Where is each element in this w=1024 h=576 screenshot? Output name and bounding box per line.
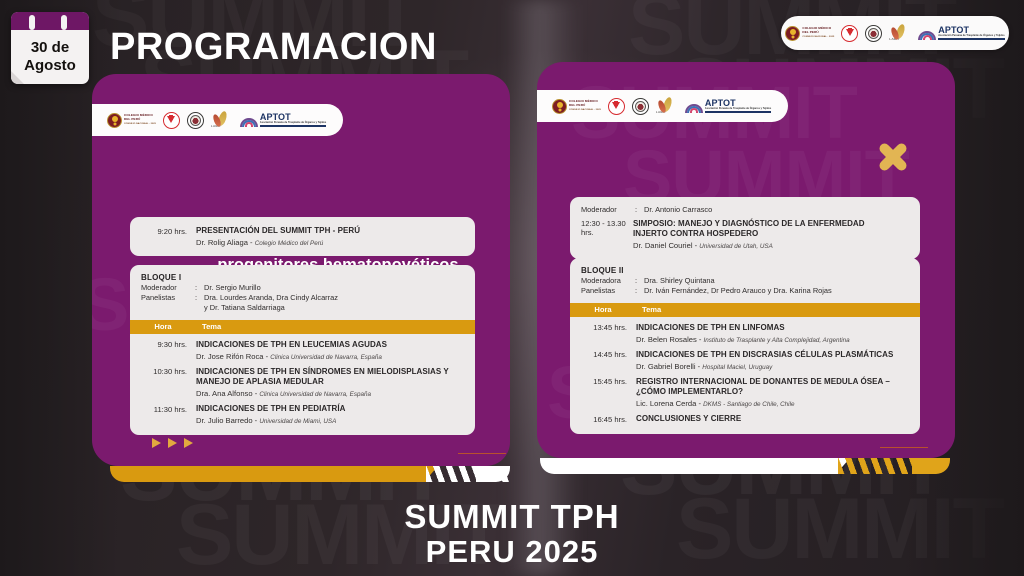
colegio-seal-icon: [107, 113, 122, 128]
row-speaker: Dr. Daniel Couriel: [633, 241, 693, 250]
card-left: SUMMIT SUMMIT COLEGIO MÉDICO DEL PERÚ CO…: [92, 74, 510, 466]
row-title: INDICACIONES DE TPH EN LEUCEMIAS AGUDAS: [196, 340, 465, 350]
colegio-logo-line2: DEL PERÚ: [802, 30, 818, 34]
red-donor-logo: [163, 112, 180, 129]
row-speaker: Dr. Jose Rifón Roca: [196, 352, 264, 361]
panelists-value: Dr. Iván Fernández, Dr Pedro Arauco y Dr…: [644, 286, 910, 296]
session-affiliation: Colegio Médico del Perú: [255, 240, 324, 247]
card-right-accent-line: [880, 447, 928, 448]
circular-seal-logo: [632, 98, 649, 115]
table-row: 9:30 hrs. INDICACIONES DE TPH EN LEUCEMI…: [130, 334, 475, 361]
lamit-logo: LAMIT: [889, 24, 911, 42]
row-time: 14:45 hrs.: [570, 350, 636, 371]
panelists-value: Dra. Lourdes Aranda, Dra Cindy Alcarraz: [204, 293, 465, 303]
row-title: REGISTRO INTERNACIONAL DE DONANTES DE ME…: [636, 377, 910, 398]
row-time: 13:45 hrs.: [570, 323, 636, 344]
card-left-bottom-bar: [110, 466, 510, 482]
row-speaker: Dr. Gabriel Borelli: [636, 362, 696, 371]
block-panel-ii: BLOQUE II Moderadora : Dra. Shirley Quin…: [570, 258, 920, 434]
aptot-logo: APTOT Asociación Peruana de Trasplante d…: [918, 26, 1004, 40]
row-speaker: Dr. Belen Rosales: [636, 335, 697, 344]
circular-seal-logo: [187, 112, 204, 129]
triangle-right-icon: [152, 438, 161, 448]
block-panelists-row: Panelistas : Dr. Iván Fernández, Dr Pedr…: [581, 286, 910, 296]
session-panel-opening: 9:20 hrs. PRESENTACIÓN DEL SUMMIT TPH - …: [130, 217, 475, 256]
block-panel-i: BLOQUE I Moderador : Dr. Sergio Murillo …: [130, 265, 475, 435]
gold-bar: [110, 466, 428, 482]
x-decoration-icon: [877, 141, 909, 173]
table-row: 14:45 hrs. INDICACIONES DE TPH EN DISCRA…: [570, 344, 920, 371]
row-title: SIMPOSIO: MANEJO Y DIAGNÓSTICO DE LA ENF…: [633, 219, 910, 229]
moderator-value: Dra. Shirley Quintana: [644, 276, 910, 286]
row-title-cont: INJERTO CONTRA HOSPEDERO: [633, 229, 910, 239]
moderator-value: Dr. Antonio Carrasco: [644, 205, 910, 215]
row-affiliation: Universidad de Utah, USA: [699, 243, 773, 250]
row-title: INDICACIONES DE TPH EN PEDIATRÍA: [196, 404, 465, 414]
calendar-icon-top: [11, 12, 89, 30]
column-header-time: Hora: [130, 322, 196, 331]
aptot-logo-bar: [938, 38, 1004, 40]
panelists-value-cont: y Dr. Tatiana Saldarriaga: [141, 303, 465, 313]
lamit-logo-label: LAMIT: [889, 37, 899, 41]
row-time: 9:30 hrs.: [130, 340, 196, 361]
table-row: 16:45 hrs. CONCLUSIONES Y CIERRE: [570, 408, 920, 434]
block-moderator-row: Moderador : Dr. Sergio Murillo: [141, 283, 465, 293]
block-moderator-row: Moderadora : Dra. Shirley Quintana: [581, 276, 910, 286]
decorative-arrows: [152, 438, 193, 448]
table-row: 10:30 hrs. INDICACIONES DE TPH EN SÍNDRO…: [130, 361, 475, 398]
card-right-bottom-bar: [540, 458, 950, 474]
aptot-logo: APTOT Asociación Peruana de Trasplante d…: [685, 99, 771, 113]
table-row: 13:45 hrs. INDICACIONES DE TPH EN LINFOM…: [570, 317, 920, 344]
moderator-label: Moderador: [581, 205, 635, 215]
panelists-label: Panelistas: [581, 286, 635, 296]
colegio-medico-del-peru-logo: COLEGIO MÉDICO DEL PERÚ CONSEJO NACIONAL…: [552, 99, 601, 114]
card-right: SUMMIT SUMMIT SUMMIT COLEGIO MÉDICO DEL …: [537, 62, 955, 458]
footer-title-line1: SUMMIT TPH: [0, 498, 1024, 536]
lamit-logo: LAMIT: [656, 97, 678, 115]
session-speaker: Dr. Rolig Aliaga: [196, 238, 248, 247]
row-speaker: Dra. Ana Alfonso: [196, 389, 253, 398]
card-left-logo-bar: COLEGIO MÉDICO DEL PERÚ CONSEJO NACIONAL…: [92, 104, 343, 136]
schedule-table-header: Hora Tema: [130, 320, 475, 334]
colegio-medico-del-peru-logo: COLEGIO MÉDICO DEL PERÚ CONSEJO NACIONAL…: [785, 26, 834, 41]
simposio-moderator-row: Moderador : Dr. Antonio Carrasco: [581, 205, 910, 215]
sponsor-logo-bar: COLEGIO MÉDICO DEL PERÚ CONSEJO NACIONAL…: [781, 16, 1009, 50]
row-speaker: Lic. Lorena Cerda: [636, 399, 696, 408]
row-affiliation: Clinica Universidad de Navarra, España: [259, 391, 371, 398]
session-title: PRESENTACIÓN DEL SUMMIT TPH - PERÚ: [196, 226, 465, 236]
session-time: 9:20 hrs.: [130, 226, 196, 247]
row-affiliation: Clinica Universidad de Navarra, España: [270, 354, 382, 361]
aptot-logo-bar: [705, 111, 771, 113]
aptot-arc-icon: [240, 114, 258, 127]
table-row: 15:45 hrs. REGISTRO INTERNACIONAL DE DON…: [570, 371, 920, 408]
column-header-topic: Tema: [636, 305, 920, 314]
table-row: 11:30 hrs. INDICACIONES DE TPH EN PEDIAT…: [130, 398, 475, 435]
panelists-label: Panelistas: [141, 293, 195, 303]
colegio-logo-line3: CONSEJO NACIONAL - 2025: [124, 123, 156, 125]
row-title: INDICACIONES DE TPH EN DISCRASIAS CÉLULA…: [636, 350, 910, 360]
lamit-logo: LAMIT: [211, 111, 233, 129]
column-header-topic: Tema: [196, 322, 475, 331]
row-time: 12:30 - 13.30 hrs.: [570, 219, 633, 250]
aptot-logo-subtitle: Asociación Peruana de Trasplante de Órga…: [260, 122, 326, 124]
footer-title-line2: PERU 2025: [0, 534, 1024, 570]
row-affiliation: Universidad de Miami, USA: [259, 418, 336, 425]
red-donor-logo: [608, 98, 625, 115]
calendar-ring-icon: [29, 15, 35, 30]
row-title: INDICACIONES DE TPH EN SÍNDROMES EN MIEL…: [196, 367, 465, 388]
page-title: PROGRAMACION: [110, 26, 437, 69]
row-speaker: Dr. Julio Barredo: [196, 416, 253, 425]
white-bar: [540, 458, 840, 474]
lamit-logo-label: LAMIT: [656, 110, 666, 114]
row-affiliation: DKMS - Santiago de Chile, Chile: [703, 401, 794, 408]
gold-cap: [912, 458, 950, 474]
circular-seal-logo: [865, 25, 882, 42]
aptot-logo-subtitle: Asociación Peruana de Trasplante de Órga…: [705, 108, 771, 110]
row-time: 15:45 hrs.: [570, 377, 636, 408]
column-header-time: Hora: [570, 305, 636, 314]
moderator-label: Moderadora: [581, 276, 635, 286]
triangle-right-icon: [168, 438, 177, 448]
colegio-seal-icon: [785, 26, 800, 41]
session-panel-simposio: Moderador : Dr. Antonio Carrasco 12:30 -…: [570, 197, 920, 259]
red-donor-logo: [841, 25, 858, 42]
block-panelists-row: Panelistas : Dra. Lourdes Aranda, Dra Ci…: [141, 293, 465, 303]
page-fold-icon: [11, 71, 24, 84]
moderator-label: Moderador: [141, 283, 195, 293]
aptot-logo-subtitle: Asociación Peruana de Trasplante de Órga…: [938, 35, 1004, 37]
row-affiliation: Instituto de Trasplante y Alta Complejid…: [704, 337, 850, 344]
colegio-logo-line3: CONSEJO NACIONAL - 2025: [569, 109, 601, 111]
block-name: BLOQUE II: [581, 266, 910, 275]
row-title: INDICACIONES DE TPH EN LINFOMAS: [636, 323, 910, 333]
moderator-value: Dr. Sergio Murillo: [204, 283, 465, 293]
calendar-ring-icon: [61, 15, 67, 30]
triangle-right-icon: [184, 438, 193, 448]
colegio-medico-del-peru-logo: COLEGIO MÉDICO DEL PERÚ CONSEJO NACIONAL…: [107, 113, 156, 128]
row-affiliation: Hospital Maciel, Uruguay: [702, 364, 772, 371]
row-title: CONCLUSIONES Y CIERRE: [636, 414, 910, 424]
aptot-logo-bar: [260, 125, 326, 127]
colegio-logo-line2: DEL PERÚ: [124, 117, 140, 121]
block-name: BLOQUE I: [141, 273, 465, 282]
table-row: 12:30 - 13.30 hrs. SIMPOSIO: MANEJO Y DI…: [570, 217, 920, 259]
row-time: 11:30 hrs.: [130, 404, 196, 425]
aptot-logo: APTOT Asociación Peruana de Trasplante d…: [240, 113, 326, 127]
card-left-accent-line: [458, 453, 506, 454]
colegio-seal-icon: [552, 99, 567, 114]
aptot-arc-icon: [918, 27, 936, 40]
stripe-pattern: [838, 458, 918, 474]
card-right-logo-bar: COLEGIO MÉDICO DEL PERÚ CONSEJO NACIONAL…: [537, 90, 788, 122]
date-badge: 30 de Agosto: [11, 12, 89, 84]
date-badge-day: 30 de: [31, 39, 69, 57]
colegio-logo-line2: DEL PERÚ: [569, 103, 585, 107]
colegio-logo-line3: CONSEJO NACIONAL - 2025: [802, 36, 834, 38]
row-time: 10:30 hrs.: [130, 367, 196, 398]
row-time: 16:45 hrs.: [570, 414, 636, 424]
schedule-table-header: Hora Tema: [570, 303, 920, 317]
aptot-arc-icon: [685, 100, 703, 113]
date-badge-month: Agosto: [24, 57, 76, 75]
lamit-logo-label: LAMIT: [211, 124, 221, 128]
